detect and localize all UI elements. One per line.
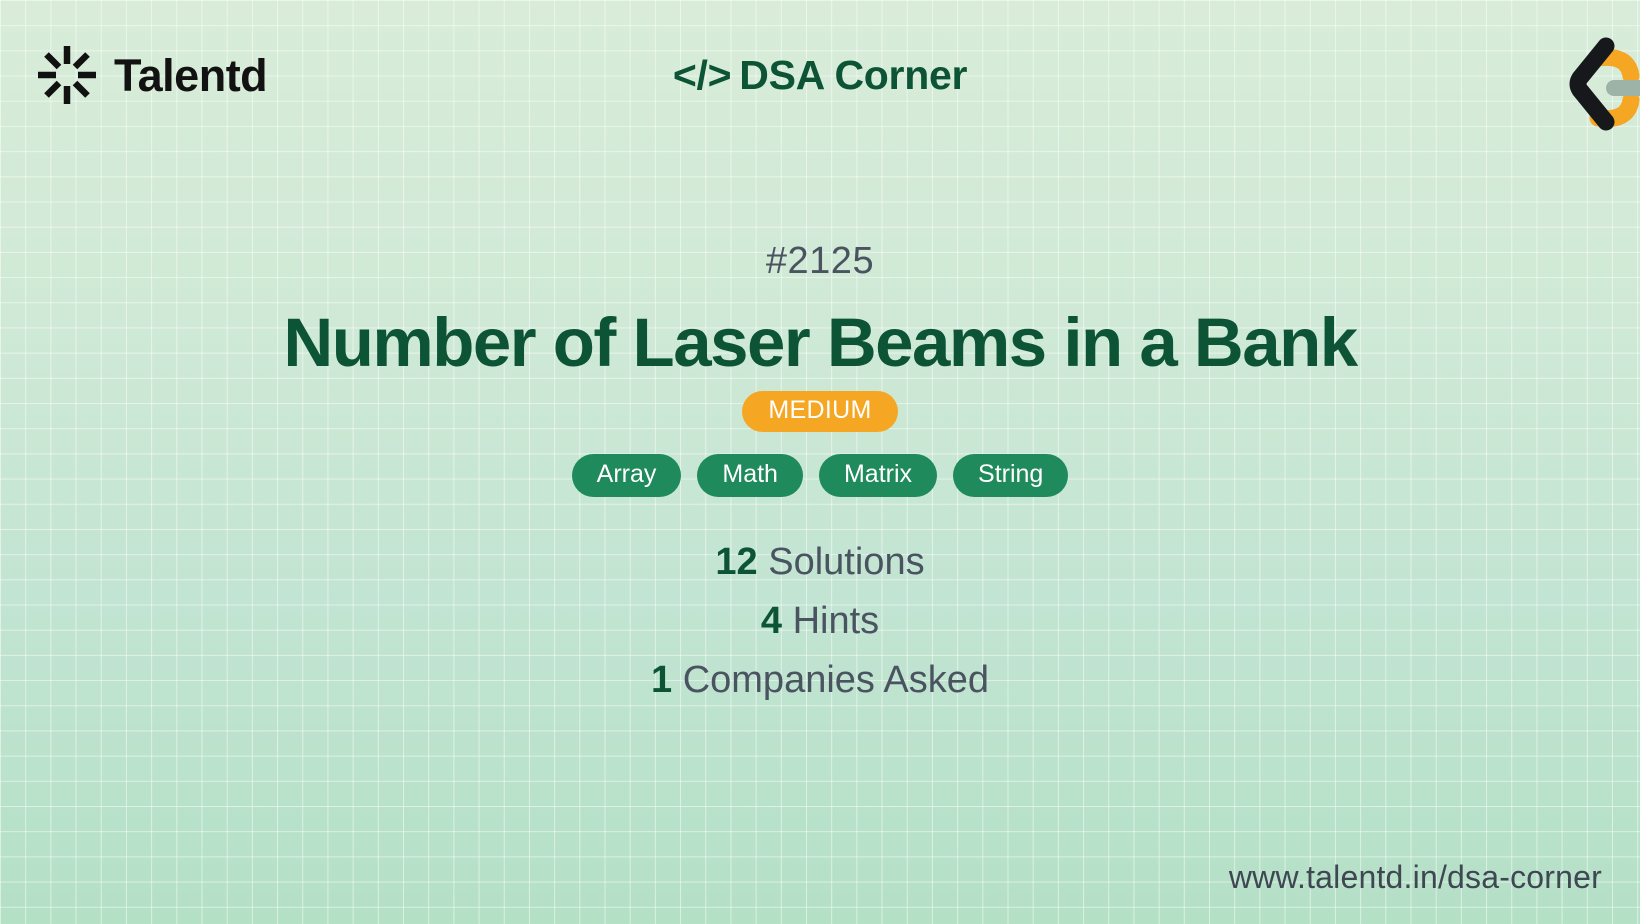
stat-value: 1 [651, 659, 672, 701]
stat-value: 12 [715, 541, 757, 583]
page-footer: www.talentd.in/dsa-corner [0, 824, 1640, 924]
difficulty-badge: MEDIUM [742, 391, 897, 432]
page-title-text: DSA Corner [739, 52, 967, 98]
tag-item[interactable]: Array [572, 454, 682, 497]
stat-row: 12 Solutions [715, 543, 924, 583]
chevron-g-logo-icon [1524, 24, 1640, 134]
problem-title: Number of Laser Beams in a Bank [243, 308, 1396, 377]
page-header: Talentd </>DSA Corner [0, 0, 1640, 150]
tag-item[interactable]: Matrix [819, 454, 937, 497]
page-title: </>DSA Corner [0, 52, 1640, 99]
problem-card: #2125 Number of Laser Beams in a Bank ME… [0, 150, 1640, 824]
stat-label: Solutions [768, 541, 924, 583]
problem-number: #2125 [766, 242, 874, 280]
stat-label: Companies Asked [683, 659, 989, 701]
code-brackets-icon: </> [673, 52, 731, 98]
stat-label: Hints [793, 600, 880, 642]
tag-item[interactable]: Math [697, 454, 803, 497]
stat-value: 4 [761, 600, 782, 642]
dsa-corner-card: Talentd </>DSA Corner #2125 Number of La… [0, 0, 1640, 924]
stat-row: 1 Companies Asked [651, 661, 989, 701]
stats-list: 12 Solutions 4 Hints 1 Companies Asked [651, 543, 989, 701]
footer-url[interactable]: www.talentd.in/dsa-corner [1229, 859, 1602, 896]
stat-row: 4 Hints [761, 602, 879, 642]
tag-item[interactable]: String [953, 454, 1068, 497]
tag-list: Array Math Matrix String [572, 454, 1069, 497]
